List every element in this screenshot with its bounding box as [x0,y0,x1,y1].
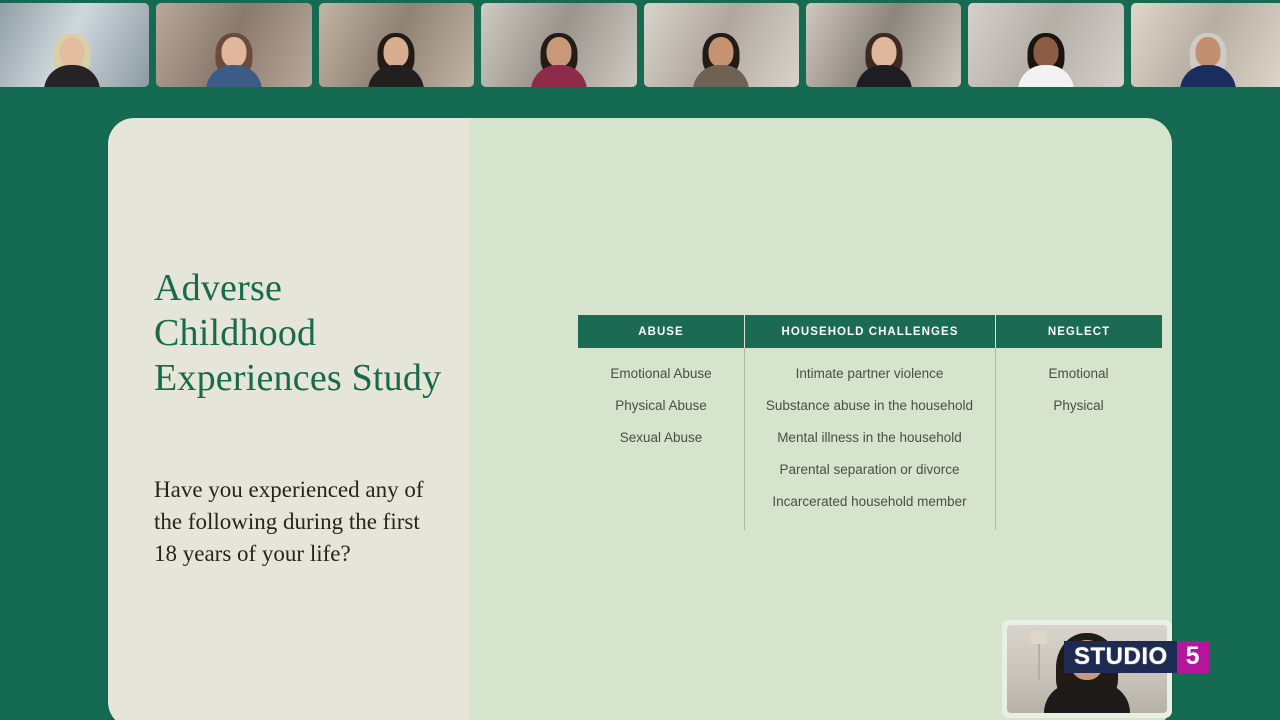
column-divider [995,348,996,530]
participant-avatar [207,33,261,87]
list-item: Emotional [1048,366,1108,382]
participant-avatar [694,33,748,87]
slide-left-panel: Adverse Childhood Experiences Study Have… [108,118,470,720]
participant-face [59,37,84,67]
video-tile[interactable] [644,3,799,87]
participant-torso [1180,65,1236,87]
participant-torso [368,65,424,87]
studio-5-number: 5 [1177,641,1209,673]
table-column-header-abuse: ABUSE [578,326,744,338]
video-call-participant-strip [0,0,1280,90]
table-column-household-challenges: Intimate partner violence Substance abus… [744,366,995,548]
table-column-neglect: Emotional Physical [995,366,1162,548]
list-item: Sexual Abuse [620,430,703,446]
participant-face [709,37,734,67]
list-item: Intimate partner violence [796,366,944,382]
video-tile[interactable] [806,3,961,87]
list-item: Physical Abuse [615,398,707,414]
participant-avatar [45,33,99,87]
slide-subtitle: Have you experienced any of the followin… [154,474,444,570]
participant-avatar [857,33,911,87]
lamp-stem-decor [1038,644,1040,680]
video-tile[interactable] [481,3,636,87]
table-column-header-neglect: NEGLECT [996,326,1162,338]
participant-face [1196,37,1221,67]
participant-avatar [532,33,586,87]
list-item: Mental illness in the household [777,430,962,446]
video-tile[interactable] [1131,3,1280,87]
studio-5-wordmark: STUDIO [1064,641,1177,673]
lamp-shade-decor [1031,631,1047,644]
video-tile[interactable] [968,3,1123,87]
participant-torso [856,65,912,87]
participant-avatar [369,33,423,87]
broadcast-screen: Adverse Childhood Experiences Study Have… [0,0,1280,720]
column-divider [744,348,745,530]
participant-torso [44,65,100,87]
page-title: Adverse Childhood Experiences Study [154,266,444,401]
participant-torso [531,65,587,87]
list-item: Emotional Abuse [610,366,711,382]
participant-face [871,37,896,67]
table-body: Emotional Abuse Physical Abuse Sexual Ab… [578,348,1162,548]
list-item: Parental separation or divorce [779,462,959,478]
host-body [1044,683,1130,713]
participant-face [384,37,409,67]
participant-torso [1018,65,1074,87]
participant-face [222,37,247,67]
video-tile[interactable] [0,3,149,87]
list-item: Incarcerated household member [772,494,966,510]
participant-avatar [1181,33,1235,87]
video-tile[interactable] [319,3,474,87]
list-item: Substance abuse in the household [766,398,973,414]
list-item: Physical [1053,398,1103,414]
studio-5-logo: STUDIO 5 [1064,641,1209,673]
table-column-header-household-challenges: HOUSEHOLD CHALLENGES [745,326,995,338]
participant-avatar [1019,33,1073,87]
table-header-row: ABUSE HOUSEHOLD CHALLENGES NEGLECT [578,315,1162,348]
participant-face [546,37,571,67]
video-tile[interactable] [156,3,311,87]
participant-torso [693,65,749,87]
aces-categories-table: ABUSE HOUSEHOLD CHALLENGES NEGLECT Emoti… [578,315,1162,548]
participant-face [1033,37,1058,67]
table-column-abuse: Emotional Abuse Physical Abuse Sexual Ab… [578,366,744,548]
participant-torso [206,65,262,87]
